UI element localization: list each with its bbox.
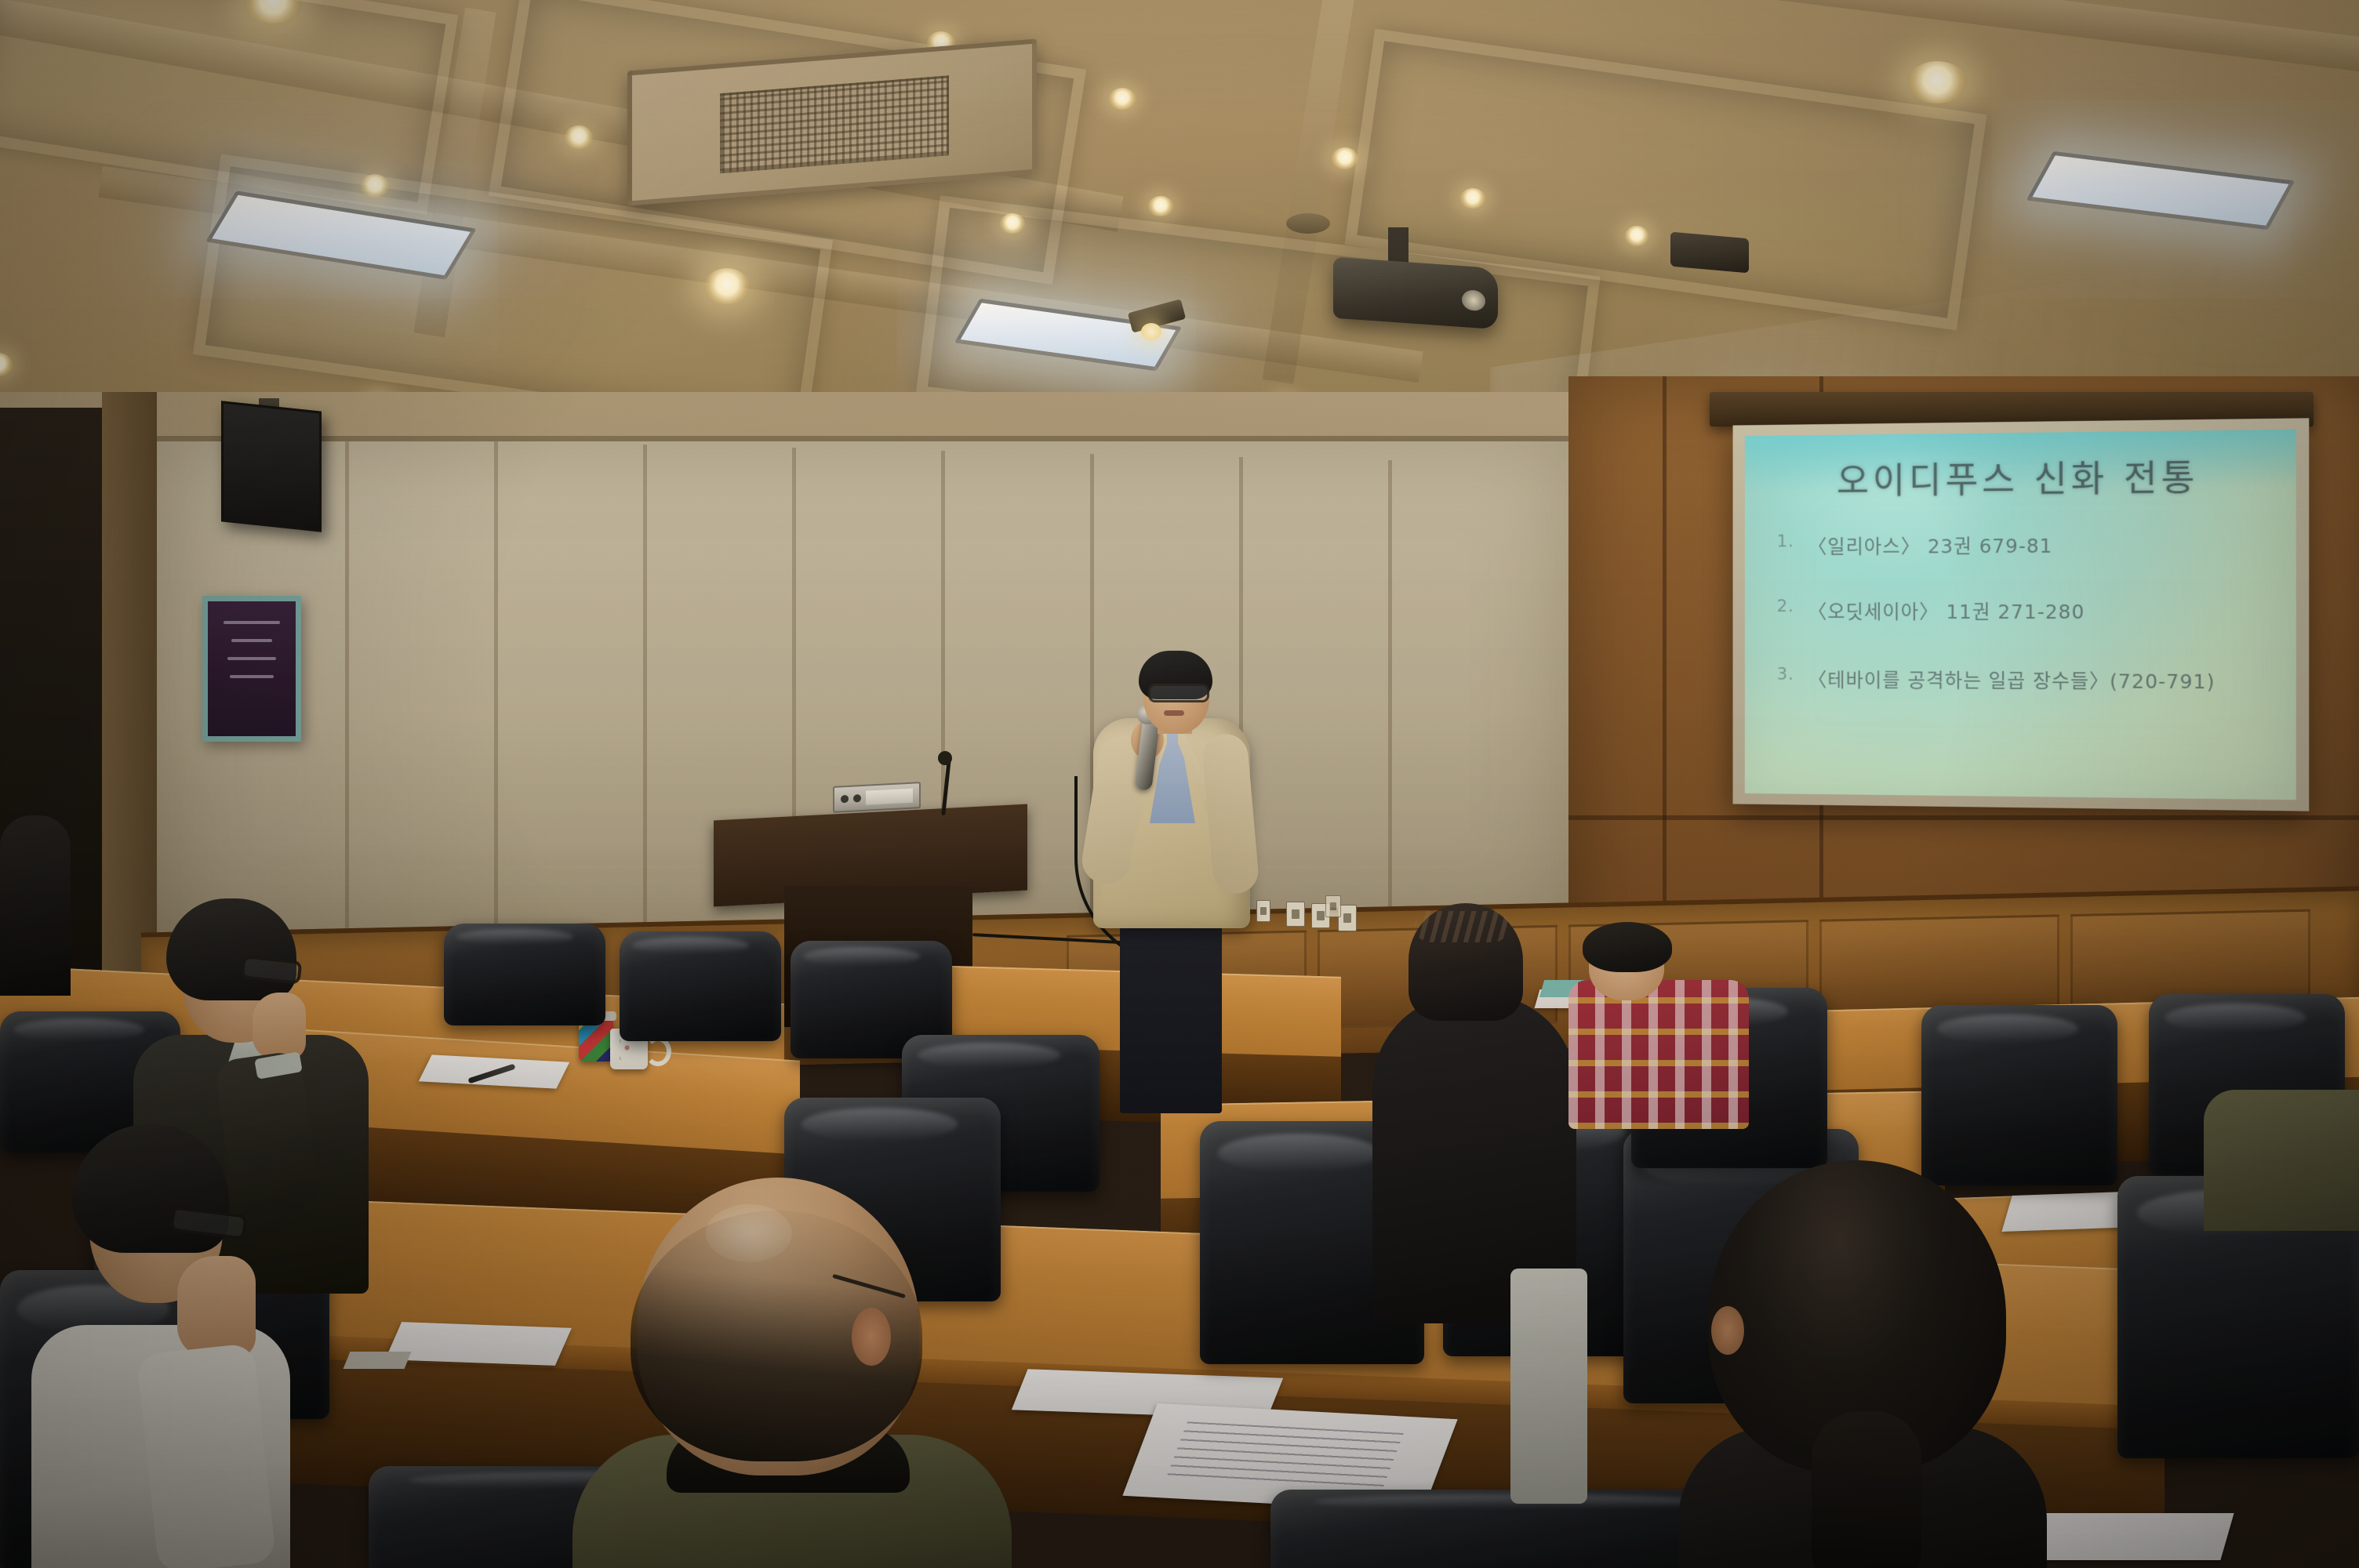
audience-man-white-shirt-glasses — [24, 1090, 376, 1568]
recessed-downlight — [1460, 188, 1485, 209]
slide-bullet-2: 2. 〈오딧세이아〉 11권 271-280 — [1777, 597, 2085, 625]
chair[interactable] — [444, 924, 605, 1025]
recessed-downlight — [361, 174, 389, 198]
slide-bullet-1-number: 1. — [1777, 532, 1794, 561]
booklet-text-lines — [1166, 1422, 1403, 1489]
mug-floral-motif — [620, 1040, 638, 1060]
slide-title: 오이디푸스 신화 전통 — [1745, 448, 2296, 504]
slide-bullet-2-number: 2. — [1777, 597, 1794, 624]
audience-far-left-figure — [0, 815, 86, 996]
slide-bullet-1-text: 〈일리아스〉 23권 679-81 — [1808, 531, 2052, 560]
projector — [1333, 257, 1498, 330]
audience-person-right-edge — [2204, 1090, 2359, 1262]
ear — [852, 1308, 891, 1366]
dark-silhouette — [0, 815, 71, 996]
chair[interactable] — [620, 931, 781, 1041]
olive-top — [2204, 1090, 2359, 1231]
gooseneck-microphone-head — [938, 751, 952, 765]
ceiling-mount-bracket — [1670, 232, 1749, 274]
mixer-knob[interactable] — [841, 795, 849, 804]
slide-bullet-3-text: 〈테바이를 공격하는 일곱 장수들〉(720-791) — [1808, 665, 2215, 695]
recessed-downlight — [1109, 88, 1136, 110]
presenter — [1082, 643, 1278, 1113]
light-trousers — [1510, 1269, 1587, 1504]
ac-grille — [720, 75, 949, 173]
projector-lens — [1462, 289, 1485, 311]
slide-bullet-1: 1. 〈일리아스〉 23권 679-81 — [1777, 531, 2053, 560]
mixer-display — [866, 789, 913, 805]
power-outlet[interactable] — [1325, 895, 1341, 917]
ponytail — [1812, 1411, 1921, 1568]
slide-bullet-3: 3. 〈테바이를 공격하는 일곱 장수들〉(720-791) — [1777, 665, 2215, 695]
hair-braid — [1415, 911, 1509, 942]
wall-speaker — [221, 401, 322, 532]
plaid-shirt — [1568, 980, 1749, 1129]
mixer-knob[interactable] — [853, 794, 861, 803]
audience-woman-ponytail — [1670, 1152, 2078, 1568]
slide-bullet-2-text: 〈오딧세이아〉 11권 271-280 — [1808, 597, 2085, 625]
audience-balding-man-olive-jacket — [596, 1168, 988, 1568]
hand — [253, 993, 306, 1060]
presenter-glasses — [1148, 684, 1209, 702]
slide-bullet-3-number: 3. — [1777, 665, 1794, 693]
recessed-downlight — [704, 268, 750, 304]
lecture-room-photo: 오이디푸스 신화 전통 1. 〈일리아스〉 23권 679-81 2. 〈오딧세… — [0, 0, 2359, 1568]
power-outlet[interactable] — [1286, 902, 1305, 927]
poster-artwork — [208, 601, 296, 736]
recessed-downlight — [1907, 61, 1967, 103]
ceiling-speaker-dome — [1286, 213, 1330, 234]
recessed-downlight — [1625, 226, 1648, 246]
hair — [166, 898, 296, 1000]
paper-handout[interactable] — [385, 1322, 572, 1366]
hair — [1583, 922, 1672, 972]
recessed-downlight — [1000, 213, 1025, 234]
wall-poster — [202, 596, 301, 742]
audience-person-plaid — [1568, 933, 1796, 1137]
projection-screen-frame[interactable]: 오이디푸스 신화 전통 1. 〈일리아스〉 23권 679-81 2. 〈오딧세… — [1733, 418, 2310, 811]
arm — [136, 1343, 276, 1568]
recessed-downlight — [1332, 147, 1358, 169]
recessed-downlight — [565, 125, 593, 149]
recessed-fluorescent-panel — [2026, 151, 2295, 230]
recessed-downlight — [1148, 196, 1173, 216]
projection-screen: 오이디푸스 신화 전통 1. 〈일리아스〉 23권 679-81 2. 〈오딧세… — [1745, 430, 2296, 800]
recessed-downlight — [0, 353, 13, 376]
hand — [177, 1256, 256, 1358]
presenter-mouth — [1164, 710, 1184, 716]
audio-control-panel[interactable] — [833, 782, 921, 813]
track-light-lamp — [1141, 323, 1161, 340]
ear — [1711, 1306, 1744, 1355]
